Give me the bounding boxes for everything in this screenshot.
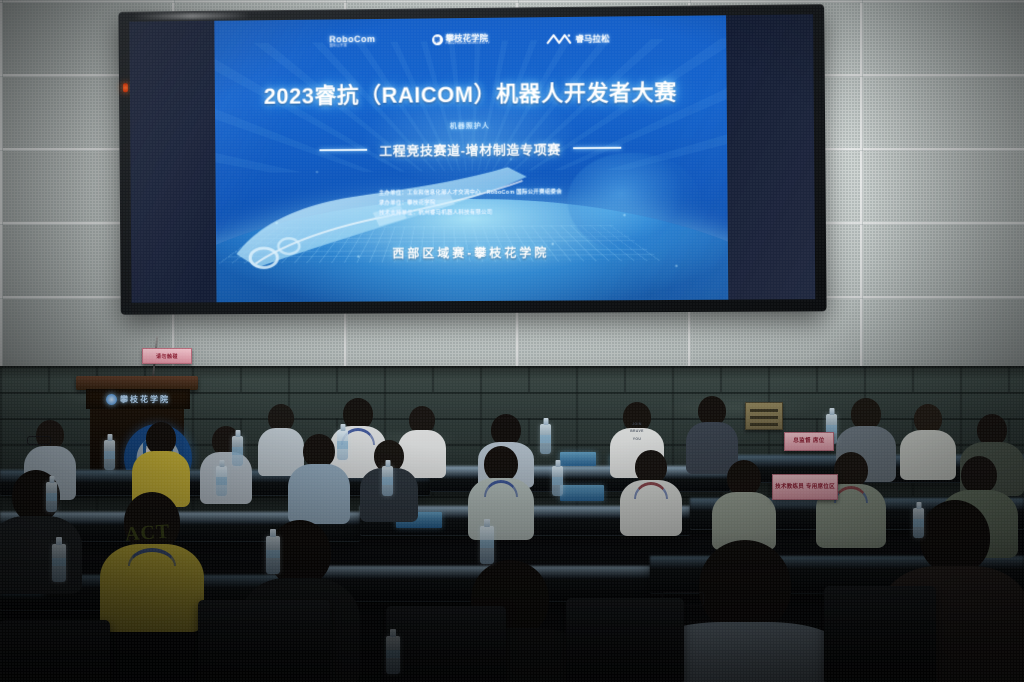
logo-robocom-subtext: 国际公开赛 (329, 44, 375, 48)
water-bottle (386, 636, 400, 674)
ruima-mark-icon (546, 33, 572, 44)
presentation-slide: RoboCom 国际公开赛 攀 攀枝花学院 PANZHIHUA UNIVERSI… (214, 15, 728, 302)
audience-person: ACT (100, 492, 204, 628)
audience-person (620, 450, 682, 534)
table-sign-judge-text: 总监督 席位 (793, 438, 824, 445)
conference-hall-scene: RoboCom 国际公开赛 攀 攀枝花学院 PANZHIHUA UNIVERSI… (0, 0, 1024, 682)
water-bottle (266, 536, 280, 574)
audience-person (712, 460, 776, 548)
slide-subtitle: 工程竞技赛道-增材制造专项赛 (379, 139, 561, 159)
shirt-print-act: ACT (124, 520, 171, 546)
water-bottle (216, 466, 227, 496)
organizer-line-1: 主办单位：工业和信息化部人才交流中心 RoboCom 国际公开赛组委会 (379, 187, 562, 199)
chair-back (198, 600, 330, 682)
power-led-icon (123, 83, 128, 92)
shirt-print-text: JOIN BRAVE YOU (630, 421, 644, 442)
audience-person (0, 470, 82, 590)
slide-organizers: 主办单位：工业和信息化部人才交流中心 RoboCom 国际公开赛组委会 承办单位… (216, 186, 728, 221)
table-sign-judge: 总监督 席位 (784, 432, 834, 451)
water-bottle (232, 436, 243, 466)
logo-university-subtext: PANZHIHUA UNIVERSITY (446, 42, 490, 46)
rule-left (320, 149, 368, 151)
lectern-top (76, 376, 198, 390)
screen-display-area: RoboCom 国际公开赛 攀 攀枝花学院 PANZHIHUA UNIVERSI… (129, 14, 815, 302)
slide-region-line: 西部区域赛-攀枝花学院 (216, 243, 728, 263)
water-bottle (104, 440, 115, 470)
logo-panzhihua-university: 攀 攀枝花学院 PANZHIHUA UNIVERSITY (432, 34, 491, 47)
water-bottle (382, 466, 393, 496)
logo-ruima-text: 睿马拉松 (575, 34, 609, 43)
chair-back (824, 586, 936, 682)
table-sign-tech: 技术教练员 专用席位区 (772, 474, 838, 500)
logo-ruima: 睿马拉松 (546, 33, 609, 45)
rule-right (573, 147, 621, 149)
chair-back (386, 606, 506, 682)
lectern-nameplate: 攀枝花学院 (86, 389, 190, 409)
chair-back (0, 620, 110, 682)
podium-sign-text: 请勿触碰 (156, 353, 178, 360)
water-bottle (337, 430, 348, 460)
wall-power-box (745, 402, 783, 430)
projection-screen[interactable]: RoboCom 国际公开赛 攀 攀枝花学院 PANZHIHUA UNIVERSI… (118, 4, 826, 315)
letterbox-pillar-right (726, 14, 815, 299)
letterbox-pillar-left (129, 21, 216, 303)
podium-sign-card: 请勿触碰 (142, 348, 192, 364)
audience-person (468, 446, 534, 538)
lectern-name-text: 攀枝花学院 (120, 394, 170, 405)
chair-back (566, 598, 684, 682)
water-bottle (46, 482, 57, 512)
desk-monitor-1 (560, 452, 596, 466)
water-bottle (552, 466, 563, 496)
slide-subtitle-row: 工程竞技赛道-增材制造专项赛 (215, 138, 727, 161)
slide-title: 2023睿抗（RAICOM）机器人开发者大赛 (215, 75, 727, 112)
desk-monitor-3 (560, 485, 604, 501)
water-bottle (540, 424, 551, 454)
bezel-highlight (132, 12, 251, 19)
water-bottle (913, 508, 924, 538)
water-bottle (480, 526, 494, 564)
organizer-line-3: 技术支持单位：杭州睿马机器人科技有限公司 (379, 208, 562, 220)
table-sign-tech-text: 技术教练员 专用席位区 (775, 484, 835, 491)
crest-icon (106, 394, 117, 405)
university-badge-icon: 攀 (432, 35, 443, 46)
water-bottle (52, 544, 66, 582)
logo-robocom: RoboCom 国际公开赛 (329, 35, 375, 48)
